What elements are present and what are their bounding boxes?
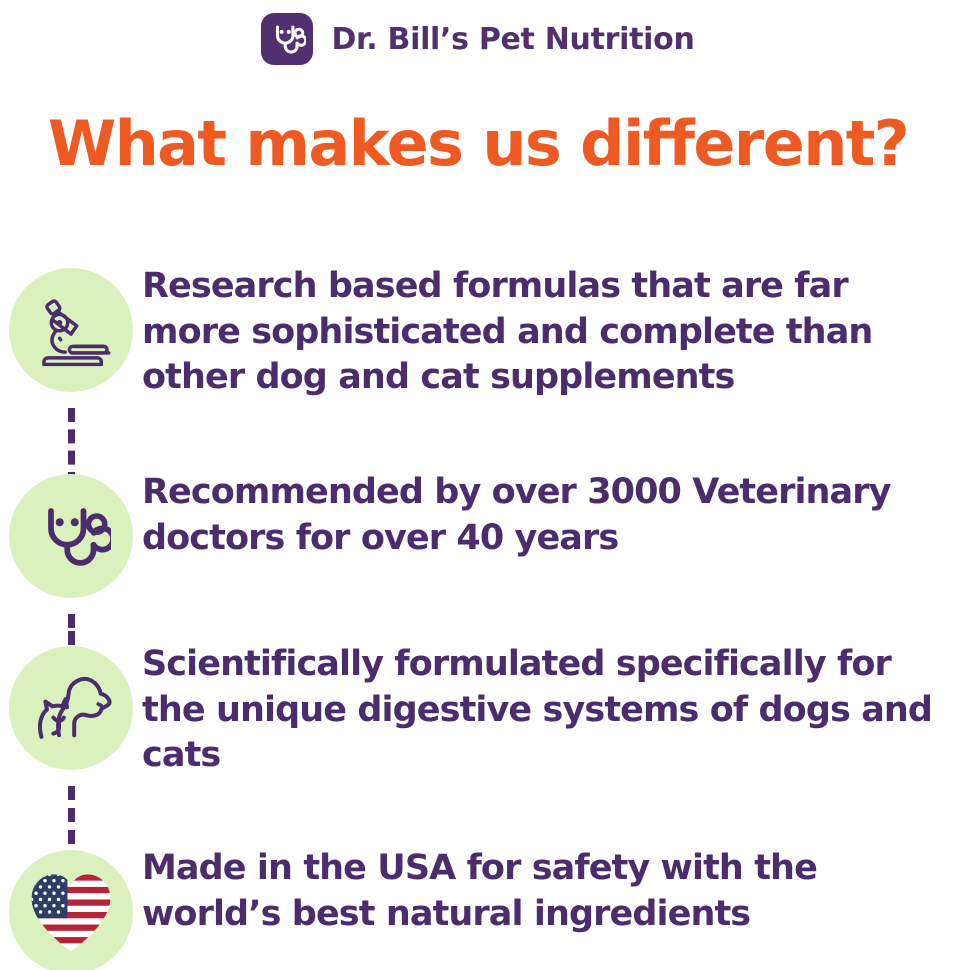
feature-icon-cell: [0, 258, 142, 392]
feature-item: Research based formulas that are far mor…: [0, 258, 956, 428]
icon-disc: [9, 474, 133, 598]
brand-header: Dr. Bill’s Pet Nutrition: [0, 8, 956, 70]
icon-disc: [9, 268, 133, 392]
infographic-page: Dr. Bill’s Pet Nutrition What makes us d…: [0, 0, 956, 970]
brand-name: Dr. Bill’s Pet Nutrition: [331, 22, 694, 57]
usa-flag-heart-icon: [26, 869, 116, 955]
feature-text: Recommended by over 3000 Veterinary doct…: [142, 464, 956, 561]
stethoscope-icon: [268, 20, 306, 58]
stethoscope-icon: [31, 496, 111, 576]
feature-item: Made in the USA for safety with the worl…: [0, 840, 956, 970]
icon-disc: [9, 850, 133, 970]
feature-item: Recommended by over 3000 Veterinary doct…: [0, 464, 956, 604]
feature-text: Scientifically formulated specifically f…: [142, 636, 956, 779]
brand-logo-mark: [261, 13, 313, 65]
feature-text: Research based formulas that are far mor…: [142, 258, 956, 401]
feature-text: Made in the USA for safety with the worl…: [142, 840, 956, 937]
icon-disc: [9, 646, 133, 770]
feature-icon-cell: [0, 464, 142, 598]
microscope-icon: [30, 289, 112, 371]
feature-list: Research based formulas that are far mor…: [0, 258, 956, 970]
dog-and-cat-icon: [27, 667, 115, 749]
page-title: What makes us different?: [0, 112, 956, 176]
feature-icon-cell: [0, 636, 142, 770]
feature-item: Scientifically formulated specifically f…: [0, 636, 956, 806]
feature-icon-cell: [0, 840, 142, 970]
